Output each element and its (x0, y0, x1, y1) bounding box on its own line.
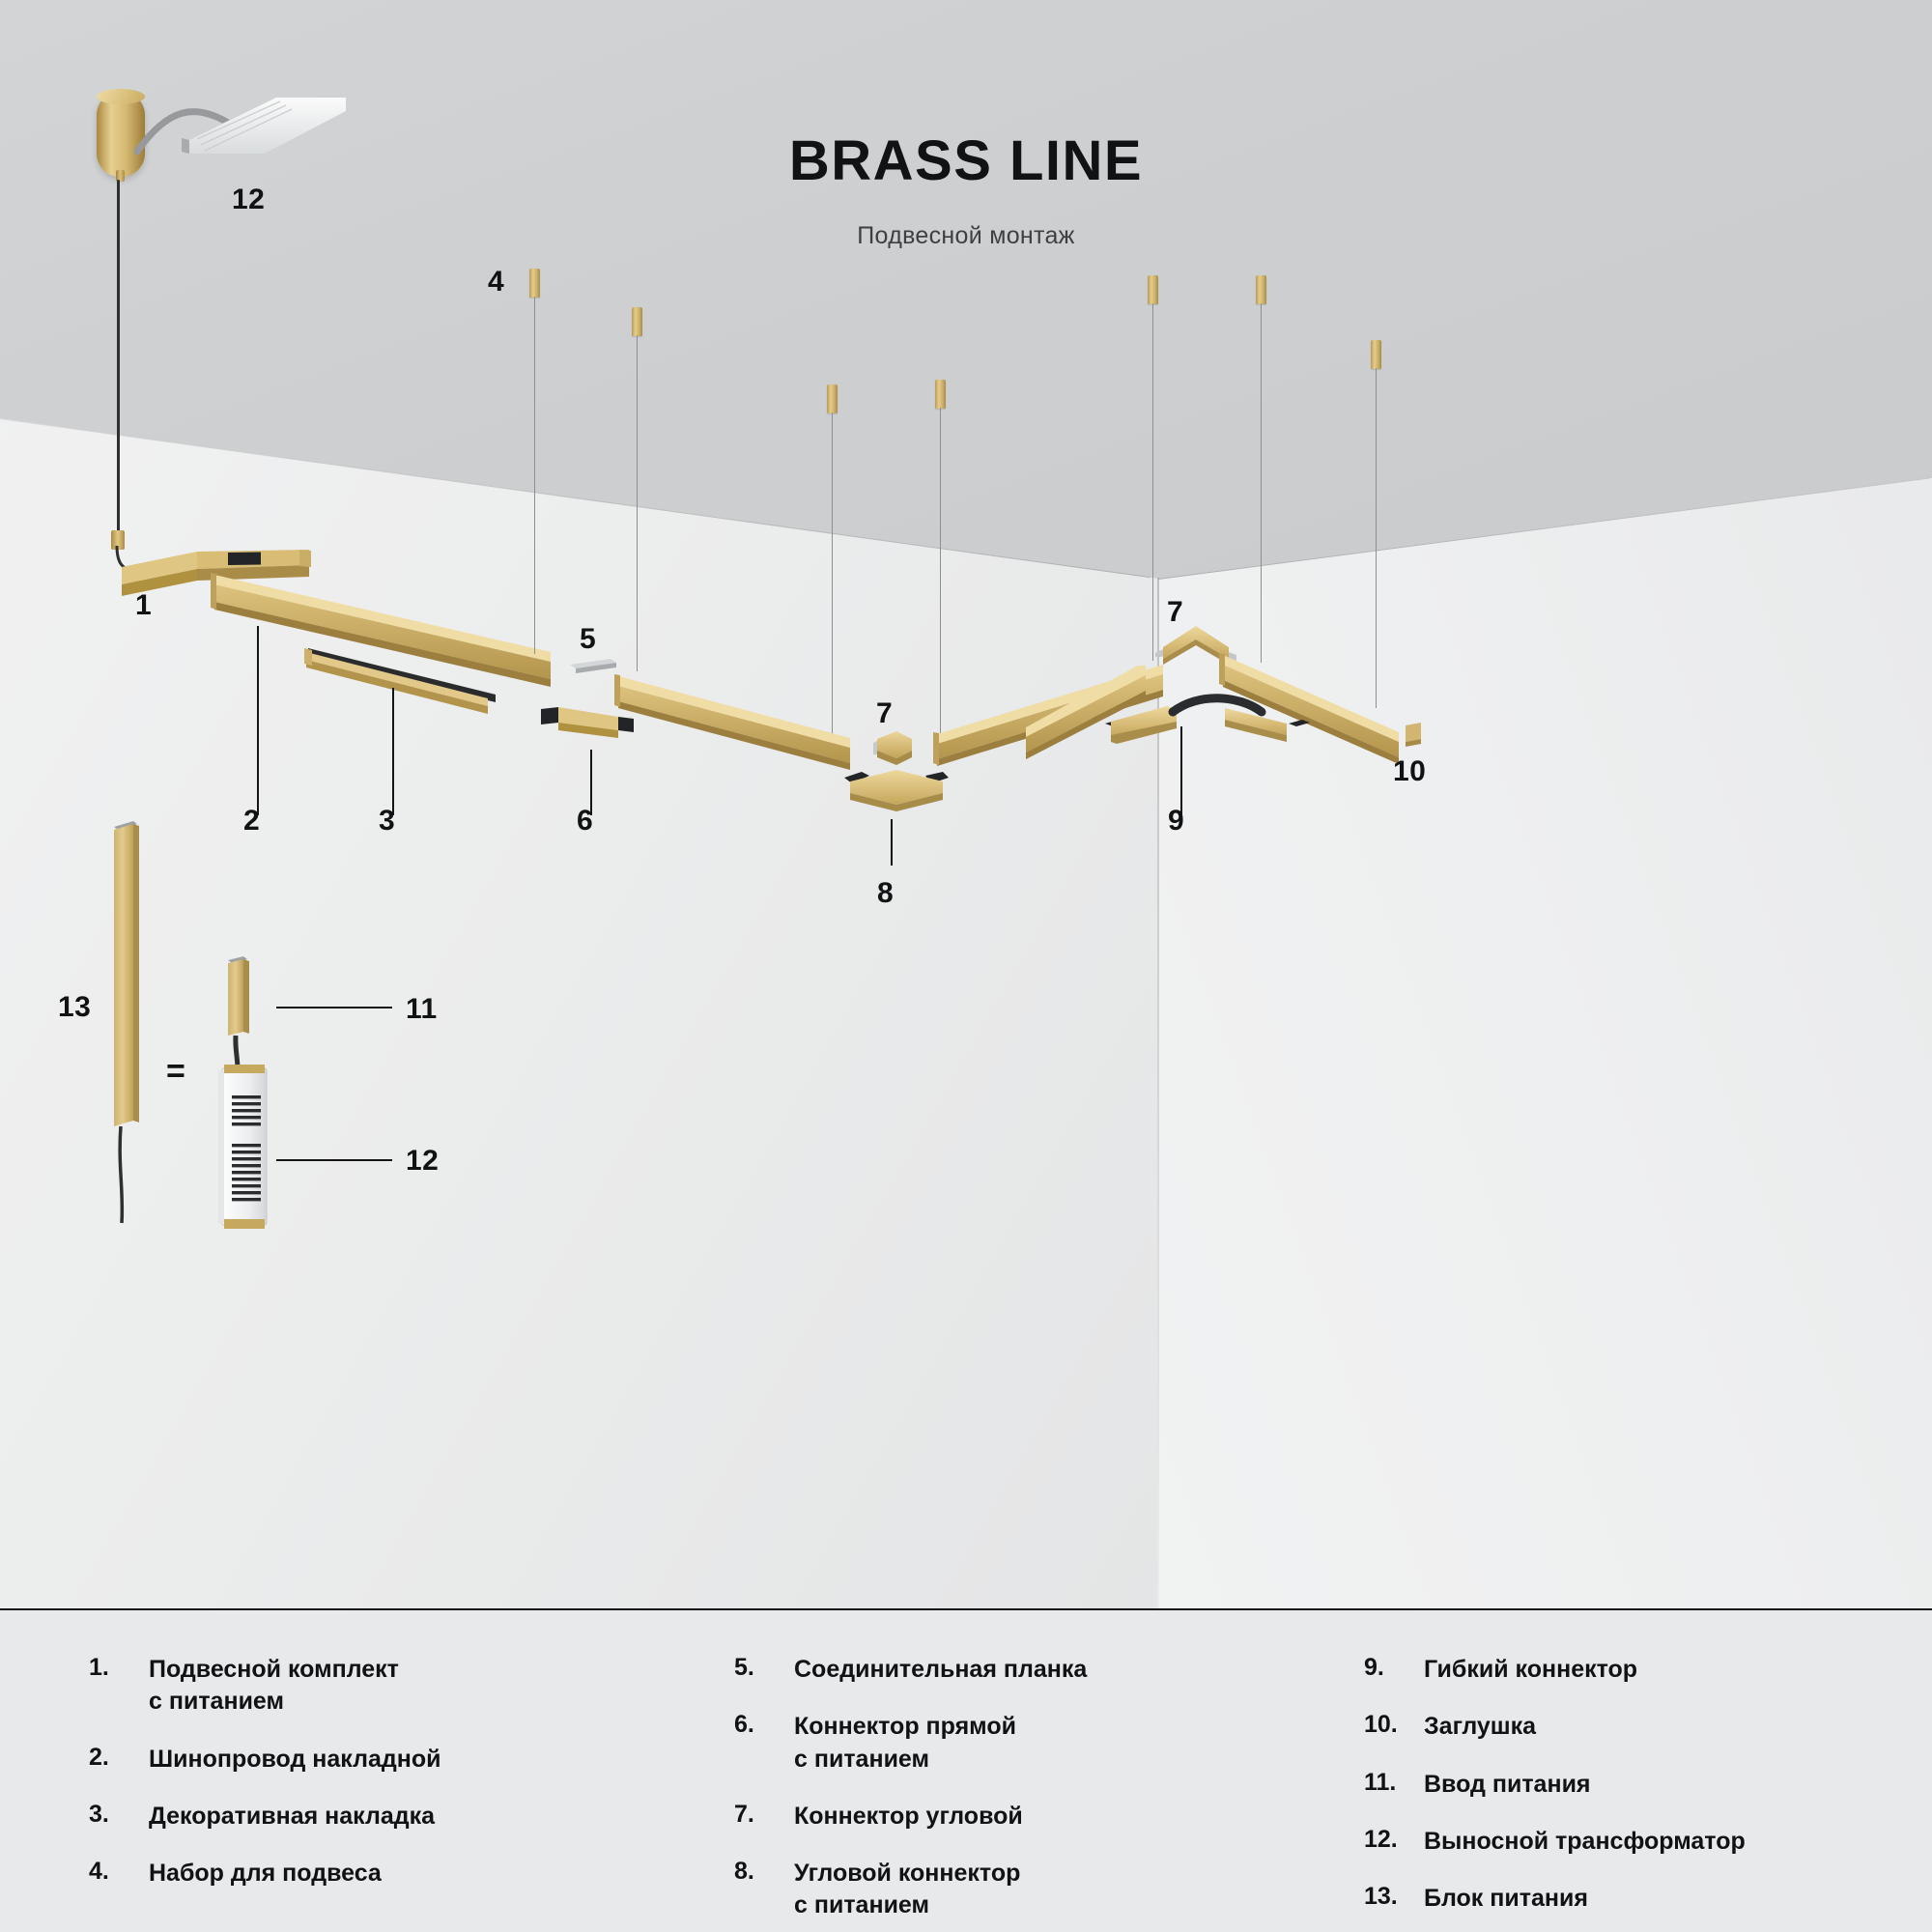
legend-label: Угловой коннектор с питанием (794, 1858, 1020, 1922)
legend-number: 10. (1364, 1711, 1424, 1743)
legend-label: Набор для подвеса (149, 1858, 382, 1889)
leader-line-3 (392, 688, 394, 815)
legend-number: 3. (89, 1801, 149, 1833)
legend-item: 11. Ввод питания (1364, 1769, 1886, 1801)
suspension-pin-1 (529, 269, 540, 298)
callout-2: 2 (243, 805, 260, 838)
callout-12-bottom: 12 (406, 1145, 439, 1178)
legend-number: 5. (734, 1654, 794, 1686)
legend-number: 6. (734, 1711, 794, 1776)
suspension-wire-5 (1152, 303, 1153, 661)
callout-7a: 7 (876, 697, 893, 730)
suspension-pin-3 (827, 384, 838, 413)
legend-label: Заглушка (1424, 1711, 1536, 1743)
legend-item: 3. Декоративная накладка (89, 1801, 543, 1833)
suspension-wire-1 (534, 297, 535, 654)
part-remote-transformer (214, 1063, 282, 1236)
legend-label: Гибкий коннектор (1424, 1654, 1637, 1686)
suspension-pin-7 (1371, 340, 1381, 369)
legend-item: 6. Коннектор прямой с питанием (734, 1711, 1198, 1776)
leader-line-12 (276, 1159, 392, 1161)
remote-transformer-top (172, 94, 375, 200)
legend-label: Соединительная планка (794, 1654, 1087, 1686)
leader-line-2 (257, 626, 259, 815)
legend-item: 8. Угловой коннектор с питанием (734, 1858, 1198, 1922)
room-illustration: BRASS LINE Подвесной монтаж (0, 0, 1932, 1608)
part-surface-track-rail-2 (614, 667, 866, 763)
suspension-wire-6 (1261, 303, 1262, 663)
callout-8: 8 (877, 877, 894, 910)
suspension-pin-5 (1148, 275, 1158, 304)
legend-label: Коннектор прямой с питанием (794, 1711, 1016, 1776)
legend-item: 7. Коннектор угловой (734, 1801, 1198, 1833)
canopy-drop-cable (117, 180, 120, 545)
leader-line-9 (1180, 726, 1182, 815)
suspension-pin-6 (1256, 275, 1266, 304)
part-end-cap (1404, 720, 1433, 749)
callout-4: 4 (488, 266, 504, 298)
callout-13: 13 (58, 991, 91, 1024)
legend-item: 13. Блок питания (1364, 1883, 1886, 1915)
legend-item: 9. Гибкий коннектор (1364, 1654, 1886, 1686)
legend-column-2: 5. Соединительная планка 6. Коннектор пр… (734, 1654, 1198, 1932)
legend-label: Подвесной комплект с питанием (149, 1654, 399, 1719)
part-flexible-connector (1101, 691, 1314, 758)
legend-item: 1. Подвесной комплект с питанием (89, 1654, 543, 1719)
legend-label: Декоративная накладка (149, 1801, 435, 1833)
suspension-pin-4 (935, 380, 946, 409)
equals-sign: = (166, 1053, 185, 1091)
diagram-stage: BRASS LINE Подвесной монтаж (0, 0, 1932, 1932)
legend-item: 10. Заглушка (1364, 1711, 1886, 1743)
legend-number: 13. (1364, 1883, 1424, 1915)
callout-9: 9 (1168, 805, 1184, 838)
legend-column-3: 9. Гибкий коннектор 10. Заглушка 11. Вво… (1364, 1654, 1886, 1932)
legend-label: Выносной трансформатор (1424, 1826, 1746, 1858)
legend-column-1: 1. Подвесной комплект с питанием 2. Шино… (89, 1654, 543, 1915)
callout-7b: 7 (1167, 596, 1183, 629)
part-power-supply-unit (108, 819, 147, 1225)
legend-item: 5. Соединительная планка (734, 1654, 1198, 1686)
page-subtitle: Подвесной монтаж (0, 222, 1932, 250)
legend-number: 9. (1364, 1654, 1424, 1686)
legend-item: 2. Шинопровод накладной (89, 1744, 543, 1776)
suspension-wire-2 (637, 335, 638, 671)
callout-5: 5 (580, 623, 596, 656)
callout-1: 1 (135, 589, 152, 622)
legend-label: Коннектор угловой (794, 1801, 1023, 1833)
suspension-pin-2 (632, 307, 642, 336)
legend-number: 7. (734, 1801, 794, 1833)
legend-number: 12. (1364, 1826, 1424, 1858)
part-straight-connector-with-power (537, 701, 643, 746)
callout-12-top: 12 (232, 184, 265, 216)
legend-footer: 1. Подвесной комплект с питанием 2. Шино… (0, 1611, 1932, 1932)
callout-10: 10 (1393, 755, 1426, 788)
legend-number: 11. (1364, 1769, 1424, 1801)
legend-number: 4. (89, 1858, 149, 1889)
leader-line-11 (276, 1007, 392, 1009)
legend-label: Ввод питания (1424, 1769, 1591, 1801)
callout-3: 3 (379, 805, 395, 838)
legend-number: 1. (89, 1654, 149, 1719)
part-power-input (224, 954, 267, 1080)
part-corner-connector-left (867, 729, 935, 770)
legend-label: Блок питания (1424, 1883, 1588, 1915)
leader-line-8 (891, 819, 893, 866)
legend-number: 8. (734, 1858, 794, 1922)
legend-label: Шинопровод накладной (149, 1744, 441, 1776)
callout-6: 6 (577, 805, 593, 838)
legend-number: 2. (89, 1744, 149, 1776)
callout-11: 11 (406, 993, 438, 1026)
legend-item: 12. Выносной трансформатор (1364, 1826, 1886, 1858)
part-corner-connector-with-power (840, 768, 954, 818)
legend-item: 4. Набор для подвеса (89, 1858, 543, 1889)
part-decorative-cover (304, 642, 507, 710)
